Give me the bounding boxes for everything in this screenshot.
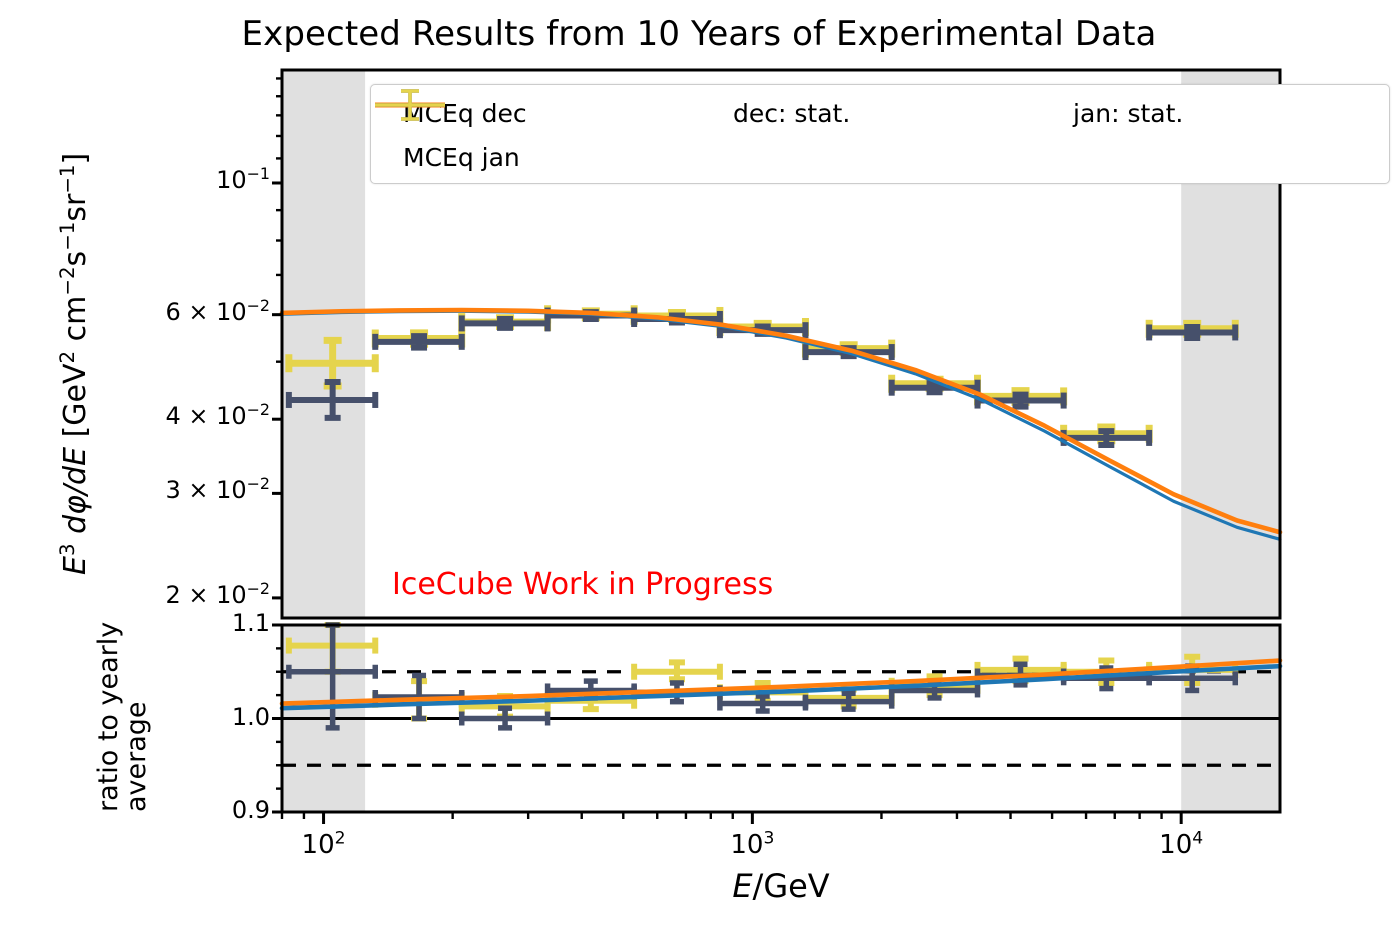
x-tick-label-1: 103	[692, 830, 812, 860]
legend-item-jan-stat-[interactable]: jan: stat.	[1055, 93, 1385, 133]
y-tick-label-main-2: 4 × 10−2	[40, 402, 270, 430]
legend: MCEq decMCEq jandec: stat.jan: stat.	[370, 84, 1390, 184]
y-tick-label-ratio-2: 0.9	[40, 796, 270, 824]
legend-label: dec: stat.	[733, 99, 850, 128]
errorbars-dec-stat-main	[289, 308, 1235, 446]
y-tick-label-ratio-0: 1.1	[40, 609, 270, 637]
x-axis-label: E/GeV	[691, 867, 871, 905]
y-tick-label-main-4: 2 × 10−2	[40, 581, 270, 609]
legend-errorbar-swatch	[371, 85, 449, 125]
legend-item-mceq-jan[interactable]: MCEq jan	[385, 137, 715, 177]
legend-item-dec-stat-[interactable]: dec: stat.	[715, 93, 1055, 133]
watermark-annotation: IceCube Work in Progress	[392, 567, 773, 602]
y-tick-label-main-3: 3 × 10−2	[40, 476, 270, 504]
legend-label: jan: stat.	[1073, 99, 1183, 128]
line-mceq-dec-main	[282, 311, 1280, 539]
y-tick-label-main-1: 6 × 10−2	[40, 298, 270, 326]
line-mceq-jan-ratio	[282, 661, 1280, 704]
y-tick-label-ratio-1: 1.0	[40, 703, 270, 731]
x-tick-label-2: 104	[1121, 830, 1241, 860]
shaded-region-main	[282, 70, 365, 618]
x-tick-label-0: 102	[264, 830, 384, 860]
legend-label: MCEq jan	[403, 143, 520, 172]
y-tick-label-main-0: 10−1	[40, 166, 270, 194]
